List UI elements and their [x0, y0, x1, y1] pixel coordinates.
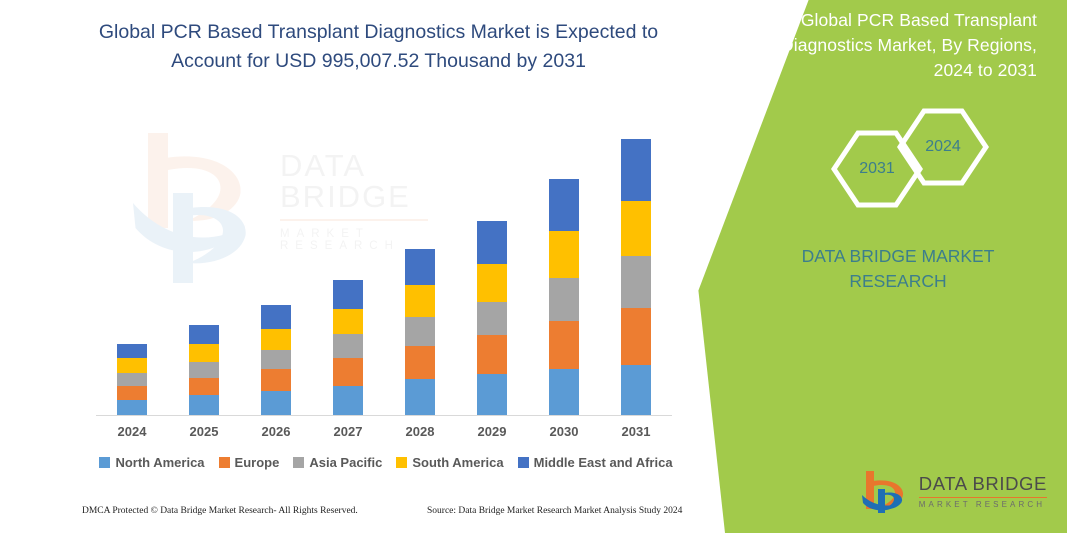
bar-segment [117, 386, 147, 400]
bar-segment [117, 373, 147, 386]
bar-segment [549, 321, 579, 369]
bar-2029 [477, 221, 507, 415]
footer-source: Source: Data Bridge Market Research Mark… [427, 506, 682, 516]
footer-copyright: DMCA Protected © Data Bridge Market Rese… [82, 506, 358, 516]
data-bridge-logo-icon [858, 469, 910, 515]
bar-segment [477, 221, 507, 263]
logo-subtitle: MARKET RESEARCH [919, 501, 1047, 509]
x-axis-label-2029: 2029 [462, 424, 522, 439]
panel-brand-text: DATA BRIDGE MARKET RESEARCH [773, 244, 1023, 294]
logo-title: DATA BRIDGE [919, 475, 1047, 494]
x-axis-label-2027: 2027 [318, 424, 378, 439]
data-bridge-logo: DATA BRIDGE MARKET RESEARCH [858, 469, 1047, 515]
bar-segment [549, 369, 579, 415]
bar-segment [621, 139, 651, 201]
footer: DMCA Protected © Data Bridge Market Rese… [0, 506, 700, 526]
bar-segment [261, 350, 291, 370]
hexagon-badges: 2031 2024 [819, 108, 999, 208]
legend-label: Asia Pacific [309, 455, 382, 470]
bar-segment [405, 346, 435, 379]
bar-segment [261, 329, 291, 350]
panel-title: Global PCR Based Transplant Diagnostics … [757, 8, 1037, 83]
legend-item[interactable]: South America [396, 455, 503, 470]
logo-divider [919, 497, 1047, 498]
x-axis-label-2025: 2025 [174, 424, 234, 439]
bar-segment [477, 264, 507, 302]
x-axis-labels: 20242025202620272028202920302031 [96, 424, 672, 444]
legend-swatch-icon [99, 457, 110, 468]
bar-segment [333, 386, 363, 415]
x-axis-label-2028: 2028 [390, 424, 450, 439]
legend-item[interactable]: North America [99, 455, 204, 470]
bar-segment [477, 374, 507, 415]
bar-segment [621, 256, 651, 308]
legend-swatch-icon [396, 457, 407, 468]
bar-segment [189, 395, 219, 415]
bar-2024 [117, 344, 147, 415]
bar-segment [261, 305, 291, 329]
bar-segment [549, 179, 579, 231]
infographic-root: Global PCR Based Transplant Diagnostics … [0, 0, 1067, 533]
bar-segment [405, 285, 435, 317]
bar-segment [117, 344, 147, 358]
hexagon-badge-2024: 2024 [897, 108, 989, 186]
legend-swatch-icon [293, 457, 304, 468]
legend-label: South America [412, 455, 503, 470]
bar-segment [549, 231, 579, 278]
bar-segment [189, 378, 219, 395]
legend-label: North America [115, 455, 204, 470]
legend-label: Europe [235, 455, 280, 470]
bar-segment [405, 379, 435, 415]
x-axis-label-2026: 2026 [246, 424, 306, 439]
x-axis-label-2031: 2031 [606, 424, 666, 439]
bar-segment [477, 335, 507, 373]
data-bridge-logo-wordmark: DATA BRIDGE MARKET RESEARCH [919, 475, 1047, 509]
chart-title: Global PCR Based Transplant Diagnostics … [86, 18, 671, 76]
bar-segment [621, 365, 651, 415]
legend-label: Middle East and Africa [534, 455, 673, 470]
bar-segment [117, 400, 147, 415]
bar-segment [333, 334, 363, 358]
bar-segment [189, 344, 219, 361]
x-axis-label-2030: 2030 [534, 424, 594, 439]
bar-2031 [621, 139, 651, 415]
bar-segment [477, 302, 507, 336]
bar-2025 [189, 325, 219, 415]
bar-2026 [261, 305, 291, 415]
bar-segment [333, 358, 363, 385]
bar-segment [117, 358, 147, 372]
legend-item[interactable]: Asia Pacific [293, 455, 382, 470]
legend-swatch-icon [219, 457, 230, 468]
bar-segment [405, 249, 435, 285]
x-axis-line [96, 415, 672, 416]
stacked-bar-plot [96, 100, 672, 416]
bar-segment [405, 317, 435, 346]
bar-2027 [333, 280, 363, 415]
x-axis-label-2024: 2024 [102, 424, 162, 439]
legend-item[interactable]: Middle East and Africa [518, 455, 673, 470]
chart-legend: North AmericaEuropeAsia PacificSouth Ame… [96, 455, 676, 470]
bar-segment [333, 309, 363, 334]
bar-segment [621, 201, 651, 255]
bar-segment [549, 278, 579, 322]
legend-swatch-icon [518, 457, 529, 468]
bar-segment [189, 362, 219, 378]
bar-segment [261, 369, 291, 391]
bar-segment [189, 325, 219, 345]
bar-2030 [549, 179, 579, 415]
hexagon-badge-2024-label: 2024 [897, 108, 989, 186]
bar-segment [261, 391, 291, 415]
bar-2028 [405, 249, 435, 415]
legend-item[interactable]: Europe [219, 455, 280, 470]
bar-segment [621, 308, 651, 365]
bar-segment [333, 280, 363, 309]
